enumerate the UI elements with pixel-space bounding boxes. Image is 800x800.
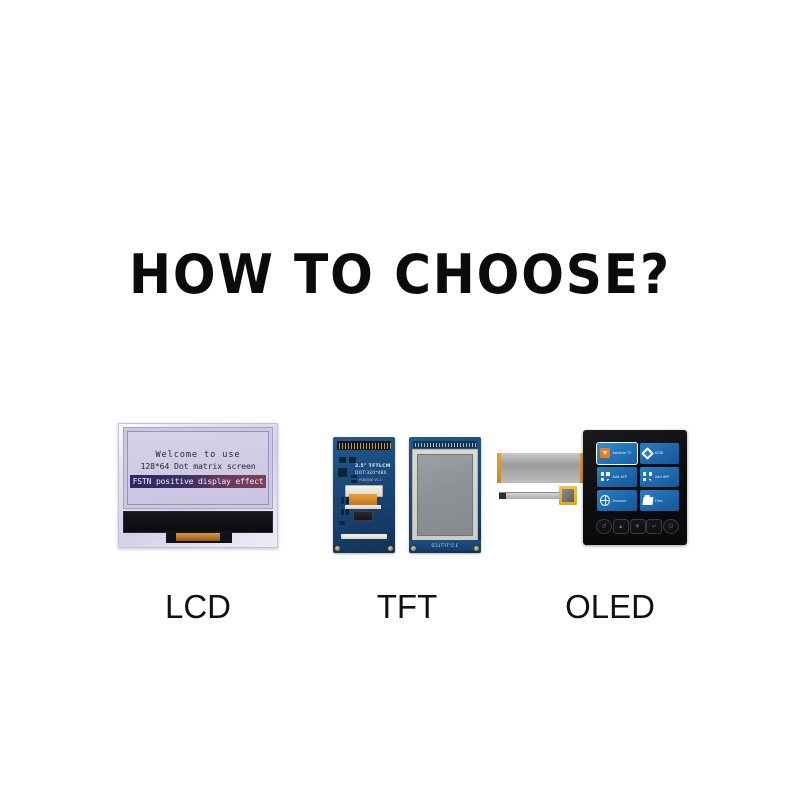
oled-tile-aptoide-tv[interactable]: Aptoide TV <box>597 443 637 464</box>
tft-bottom-connector <box>341 534 387 539</box>
oled-tile-add-app-1[interactable]: Add APP <box>597 467 637 488</box>
oled-tile-add-app-2[interactable]: Add APP <box>640 467 680 488</box>
tft-mount-hole <box>411 546 416 551</box>
tft-front-label-text: 3.5"TFTLCD <box>431 543 458 548</box>
tft-flex-backer <box>345 505 381 509</box>
caption-lcd: LCD <box>128 588 268 626</box>
back-icon: ↺ <box>601 524 606 530</box>
oled-tile-kodi[interactable]: KODI <box>640 443 680 464</box>
power-icon: ⏻ <box>669 524 674 530</box>
lcd-screen: Welcome to use 128*64 Dot matrix screen … <box>127 431 269 505</box>
tft-front-pin-header <box>413 441 477 448</box>
tft-sd-card-slot <box>353 511 373 521</box>
tft-mount-hole <box>335 546 340 551</box>
add-app-icon <box>643 472 653 482</box>
tft-front-label: 3.5"TFTLCD <box>409 540 481 551</box>
down-button[interactable]: ▼ <box>630 519 646 534</box>
oled-tile-label: Browser <box>613 499 627 503</box>
oled-button-row: ↺ ▲ ▼ ↵ ⏻ <box>596 519 679 534</box>
caption-oled: OLED <box>540 588 680 626</box>
down-arrow-icon: ▼ <box>635 524 641 530</box>
oled-app-grid: Aptoide TV KODI Add APP Add APP <box>597 443 679 511</box>
product-image-lcd: Welcome to use 128*64 Dot matrix screen … <box>118 423 278 548</box>
tft-board-front: 3.5"TFTLCD <box>409 437 481 553</box>
oled-tile-label: Files <box>655 499 663 503</box>
oled-driver-chip <box>559 486 577 505</box>
oled-tile-browser[interactable]: Browser <box>597 490 637 511</box>
lcd-inner-frame: Welcome to use 128*64 Dot matrix screen … <box>123 427 273 509</box>
oled-tile-label: KODI <box>655 451 664 455</box>
lcd-text-line-1: Welcome to use <box>130 449 266 461</box>
tft-screen-frame <box>412 449 478 541</box>
page-title: HOW TO CHOOSE? <box>28 243 772 306</box>
oled-tile-label: Add APP <box>613 475 627 479</box>
caption-tft: TFT <box>337 588 477 626</box>
tft-silkscreen-line-2: DOT:320*480 <box>355 471 387 476</box>
back-button[interactable]: ↺ <box>596 519 612 534</box>
product-image-tft: 3.5" TFTLCM DOT:320*480 PCB0000 V1.1 <box>333 437 481 553</box>
tft-mount-hole <box>474 546 479 551</box>
lcd-flex-connector <box>166 531 232 543</box>
oled-panel-body: Aptoide TV KODI Add APP Add APP <box>583 430 687 545</box>
lcd-text-line-3: FSTN positive display effect <box>130 475 266 488</box>
tft-silkscreen-line-1: 3.5" TFTLCM <box>355 464 391 469</box>
tft-pin-header <box>337 441 391 450</box>
kodi-icon <box>643 448 653 458</box>
lcd-text-line-2: 128*64 Dot matrix screen <box>130 461 266 473</box>
up-button[interactable]: ▲ <box>613 519 629 534</box>
oled-tile-label: Aptoide TV <box>613 451 632 455</box>
caption-row: LCD TFT OLED <box>0 588 800 638</box>
enter-icon: ↵ <box>652 524 657 530</box>
oled-flex-cable-thin <box>499 492 561 499</box>
oled-tile-label: Add APP <box>655 475 669 479</box>
globe-icon <box>600 496 610 506</box>
lcd-flex-contacts <box>176 533 220 541</box>
aptoide-icon <box>600 448 610 458</box>
tft-board-back: 3.5" TFTLCM DOT:320*480 PCB0000 V1.1 <box>333 437 395 553</box>
folder-icon <box>643 496 653 506</box>
tft-mount-hole <box>388 546 393 551</box>
oled-tile-files[interactable]: Files <box>640 490 680 511</box>
enter-button[interactable]: ↵ <box>646 519 662 534</box>
tft-screen <box>417 454 473 536</box>
product-row: Welcome to use 128*64 Dot matrix screen … <box>0 415 800 565</box>
up-arrow-icon: ▲ <box>618 524 624 530</box>
oled-flex-cable-wide <box>497 453 583 483</box>
product-image-oled: Aptoide TV KODI Add APP Add APP <box>497 430 687 545</box>
power-button[interactable]: ⏻ <box>663 519 679 534</box>
add-app-icon <box>600 472 610 482</box>
tft-silkscreen-line-3: PCB0000 V1.1 <box>359 478 382 482</box>
lcd-lower-bezel <box>123 511 273 533</box>
